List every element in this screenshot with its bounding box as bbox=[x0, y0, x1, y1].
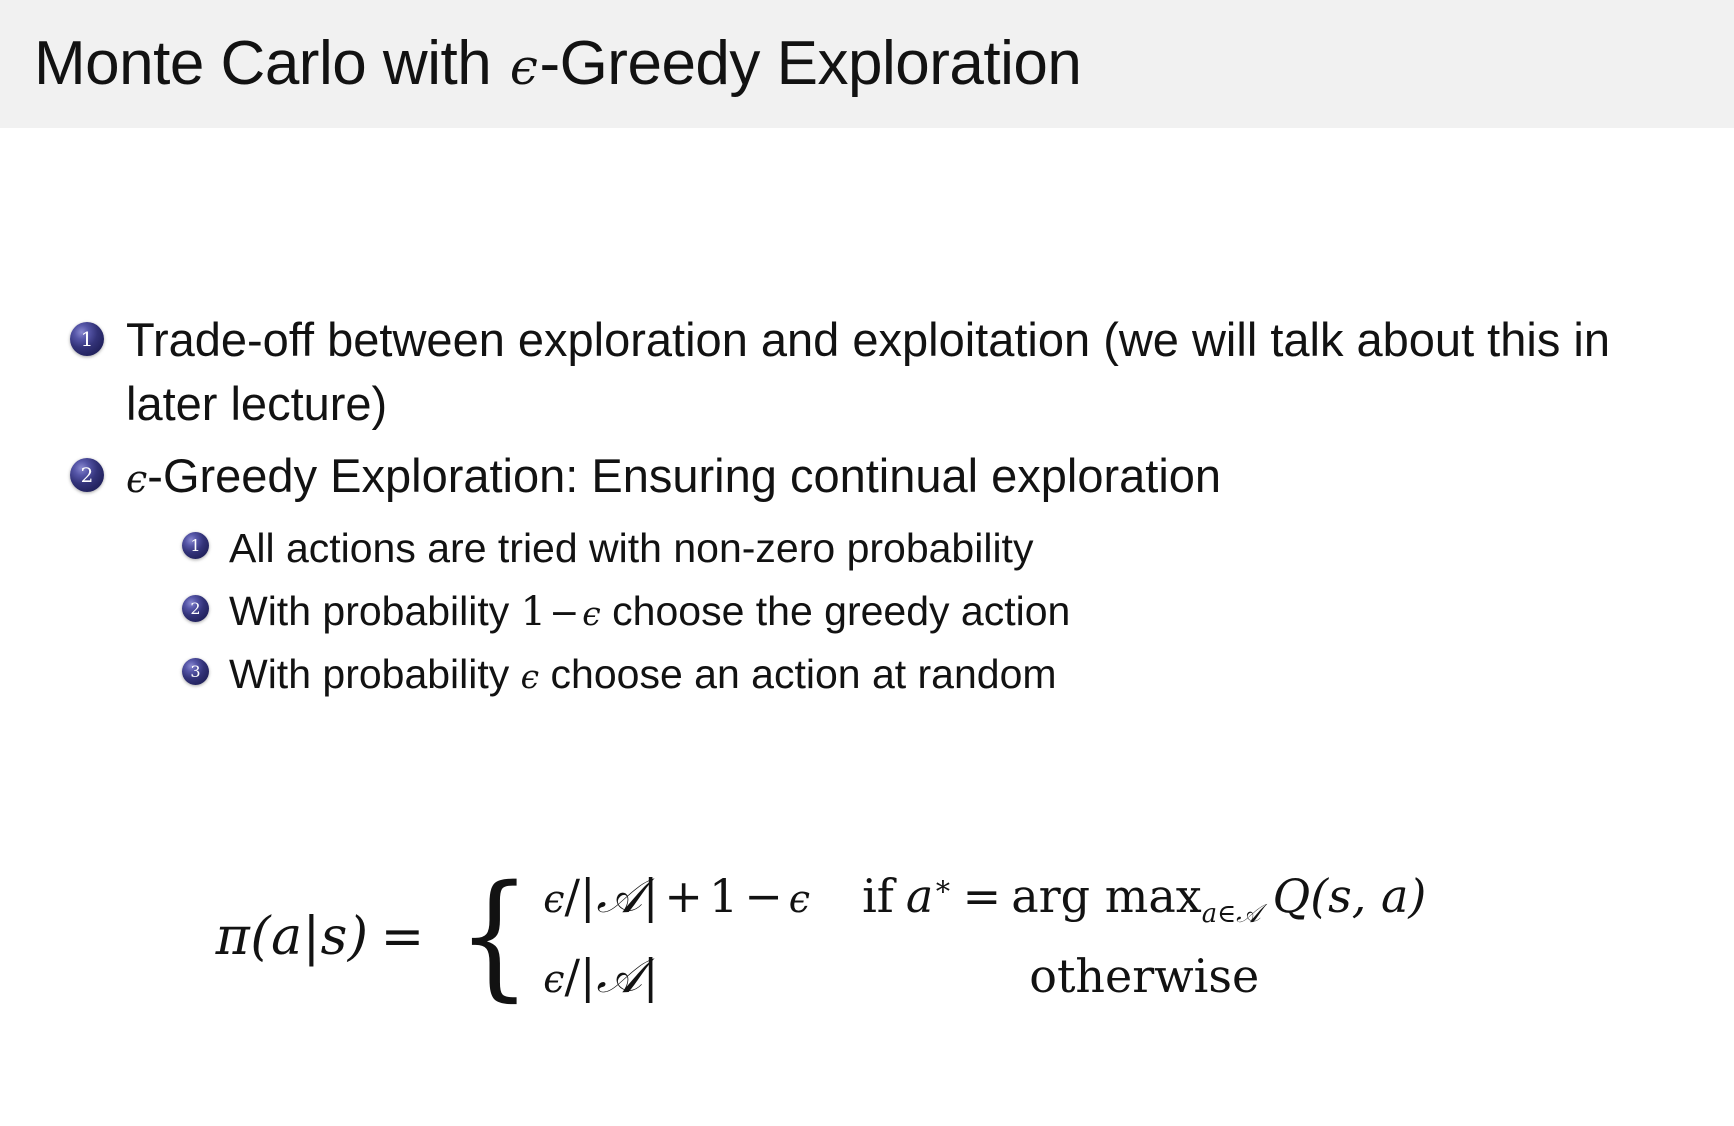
case-1-one: 1 bbox=[709, 869, 738, 923]
minus-operator: − bbox=[738, 869, 789, 923]
case-1-condition: ifa∗=arg maxa∈𝒜Q(s, a) bbox=[862, 869, 1426, 930]
list-item: 1 Trade-off between exploration and expl… bbox=[70, 308, 1710, 436]
bullet-number-ball-1: 1 bbox=[70, 322, 104, 356]
equals-sign: = bbox=[953, 869, 1012, 923]
policy-equation: π(a|s)= { ϵ/|𝒜|+1−ϵ ifa∗=arg maxa∈𝒜Q(s, … bbox=[0, 868, 1734, 1005]
equals-sign: = bbox=[369, 907, 437, 967]
case-1-bar-close: | bbox=[643, 869, 659, 923]
optimal-action-symbol: a bbox=[906, 869, 933, 923]
sub-bullet-2-one: 1 bbox=[521, 589, 546, 635]
bullet-2-epsilon-symbol: ϵ bbox=[126, 457, 147, 501]
sub-bullet-number-ball-1: 1 bbox=[182, 532, 209, 559]
bullet-number-ball-2: 2 bbox=[70, 458, 104, 492]
case-1-action-set: 𝒜 bbox=[596, 868, 643, 924]
sub-bullet-3-epsilon-symbol: ϵ bbox=[521, 657, 539, 696]
case-2-condition: otherwise bbox=[862, 949, 1426, 1003]
case-2-bar-close: | bbox=[643, 949, 659, 1003]
cases-brace: { bbox=[457, 888, 531, 986]
q-function-symbol: Q bbox=[1272, 869, 1310, 923]
sub-bullet-2-text-before: With probability bbox=[229, 588, 521, 634]
list-item: 3 With probability ϵ choose an action at… bbox=[182, 648, 1221, 701]
bullet-2-label: -Greedy Exploration: Ensuring continual … bbox=[147, 449, 1221, 502]
case-1-value: ϵ/|𝒜|+1−ϵ bbox=[543, 868, 810, 925]
q-function-arguments: (s, a) bbox=[1310, 869, 1426, 923]
sub-bullet-3-text: With probability ϵ choose an action at r… bbox=[229, 648, 1057, 701]
title-prefix: Monte Carlo with bbox=[34, 29, 508, 98]
list-item: 2 With probability 1−ϵ choose the greedy… bbox=[182, 585, 1221, 638]
case-1-slash-bar: /| bbox=[565, 869, 596, 923]
slide-title-bar: Monte Carlo with ϵ-Greedy Exploration bbox=[0, 0, 1734, 128]
case-2-value: ϵ/|𝒜| bbox=[543, 948, 810, 1005]
argmax-operator: arg max bbox=[1011, 869, 1201, 923]
case-1-epsilon-2: ϵ bbox=[789, 877, 810, 921]
cases-grid: ϵ/|𝒜|+1−ϵ ifa∗=arg maxa∈𝒜Q(s, a) ϵ/|𝒜| o… bbox=[543, 868, 1426, 1005]
argmax-subscript: a∈𝒜 bbox=[1202, 899, 1261, 929]
slide-body: 1 Trade-off between exploration and expl… bbox=[0, 128, 1734, 1126]
list-item: 1 All actions are tried with non-zero pr… bbox=[182, 522, 1221, 575]
equation-left-hand-side: π(a|s)= bbox=[216, 907, 437, 967]
case-2-epsilon: ϵ bbox=[543, 957, 564, 1001]
bullet-1-text: Trade-off between exploration and exploi… bbox=[126, 308, 1686, 436]
star-superscript: ∗ bbox=[933, 870, 952, 903]
case-1-epsilon: ϵ bbox=[543, 877, 564, 921]
minus-operator: − bbox=[546, 593, 582, 634]
sub-bullet-number-ball-2: 2 bbox=[182, 595, 209, 622]
main-bullet-list: 1 Trade-off between exploration and expl… bbox=[70, 308, 1710, 720]
sub-bullet-2-text-after: choose the greedy action bbox=[601, 588, 1071, 634]
sub-bullet-2-text: With probability 1−ϵ choose the greedy a… bbox=[229, 585, 1070, 638]
page-title: Monte Carlo with ϵ-Greedy Exploration bbox=[34, 33, 1081, 95]
title-epsilon-symbol: ϵ bbox=[508, 38, 540, 96]
if-keyword: if bbox=[862, 869, 894, 923]
sub-bullet-number-ball-3: 3 bbox=[182, 658, 209, 685]
sub-bullet-3-text-after: choose an action at random bbox=[539, 651, 1056, 697]
case-2-action-set: 𝒜 bbox=[596, 948, 643, 1004]
pi-arguments: (a|s) bbox=[250, 907, 368, 967]
pi-symbol: π bbox=[216, 907, 251, 967]
sub-bullet-3-text-before: With probability bbox=[229, 651, 521, 697]
case-2-slash-bar: /| bbox=[565, 949, 596, 1003]
title-suffix: -Greedy Exploration bbox=[539, 29, 1081, 98]
sub-bullet-2-epsilon-symbol: ϵ bbox=[582, 594, 600, 633]
bullet-2-text: ϵ-Greedy Exploration: Ensuring continual… bbox=[126, 444, 1221, 508]
list-item: 2 ϵ-Greedy Exploration: Ensuring continu… bbox=[70, 444, 1710, 712]
sub-bullet-list: 1 All actions are tried with non-zero pr… bbox=[182, 522, 1221, 702]
slide: Monte Carlo with ϵ-Greedy Exploration 1 … bbox=[0, 0, 1734, 1126]
plus-operator: + bbox=[658, 869, 709, 923]
sub-bullet-1-text: All actions are tried with non-zero prob… bbox=[229, 522, 1033, 575]
